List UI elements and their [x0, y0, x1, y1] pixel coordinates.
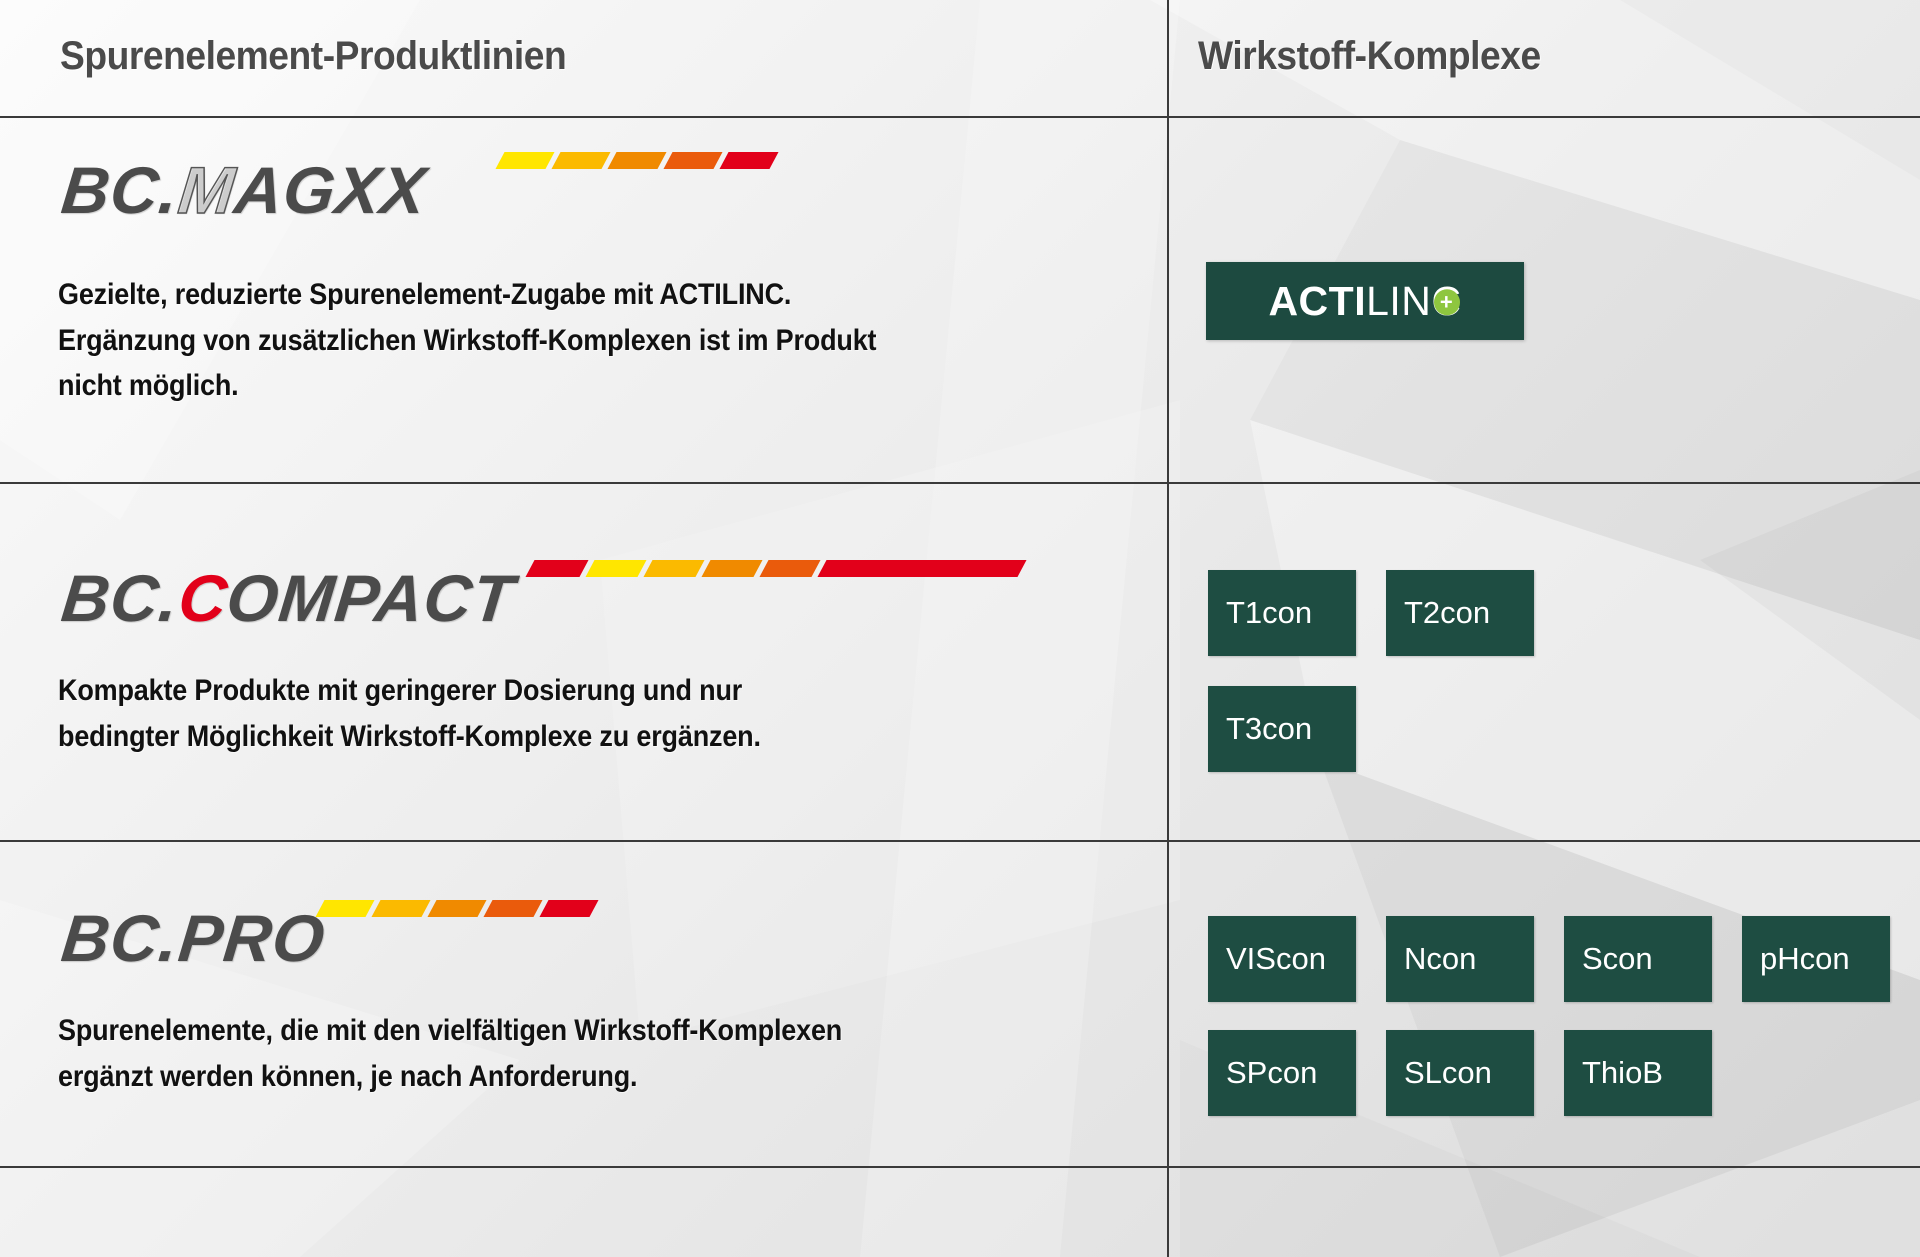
bc-magxx-description: Gezielte, reduzierte Spurenelement-Zugab…: [58, 272, 876, 409]
bc-pro-logo: BC.PRO: [62, 900, 325, 976]
bc-magxx-prefix: BC.: [58, 152, 183, 228]
bc-compact-red-letter: C: [175, 560, 232, 636]
complex-badge-t2con[interactable]: T2con: [1386, 570, 1534, 656]
stripe-dark-orange: [759, 560, 820, 577]
column-header-active-complexes: Wirkstoff-Komplexe: [1198, 34, 1541, 79]
complex-badge-thiob[interactable]: ThioB: [1564, 1030, 1712, 1116]
complex-badge-t1con[interactable]: T1con: [1208, 570, 1356, 656]
stripe-orange: [701, 560, 762, 577]
bc-pro-prefix: BC.: [58, 900, 183, 976]
stripe-orange: [427, 900, 486, 917]
stripe-red-long: [817, 560, 1026, 577]
bc-pro-stripes: [315, 900, 598, 917]
complex-badge-scon[interactable]: Scon: [1564, 916, 1712, 1002]
desc-line: Kompakte Produkte mit geringerer Dosieru…: [58, 668, 761, 714]
bc-pro-description: Spurenelemente, die mit den vielfältigen…: [58, 1008, 842, 1099]
bc-magxx-stripes: [495, 152, 778, 169]
complex-badge-phcon[interactable]: pHcon: [1742, 916, 1890, 1002]
bc-compact-description: Kompakte Produkte mit geringerer Dosieru…: [58, 668, 761, 759]
desc-line: Ergänzung von zusätzlichen Wirkstoff-Kom…: [58, 318, 876, 364]
stripe-dark-orange: [663, 152, 722, 169]
complex-badge-t3con[interactable]: T3con: [1208, 686, 1356, 772]
complex-badge-spcon[interactable]: SPcon: [1208, 1030, 1356, 1116]
bc-magxx-suffix: AGXX: [231, 152, 430, 228]
bc-compact-suffix: OMPACT: [223, 560, 518, 636]
desc-line: bedingter Möglichkeit Wirkstoff-Komplexe…: [58, 714, 761, 760]
comparison-table: Spurenelement-Produktlinien Wirkstoff-Ko…: [0, 0, 1920, 1257]
stripe-yellow: [315, 900, 374, 917]
bc-pro-suffix: PRO: [175, 900, 329, 976]
grid-line-row3: [0, 1166, 1920, 1168]
grid-line-row2: [0, 840, 1920, 842]
stripe-yellow: [495, 152, 554, 169]
complex-badge-slcon[interactable]: SLcon: [1386, 1030, 1534, 1116]
stripe-red: [539, 900, 598, 917]
actilinc-bold-text: ACTI: [1268, 281, 1366, 322]
column-header-product-lines: Spurenelement-Produktlinien: [60, 34, 566, 79]
complex-badge-viscon[interactable]: VIScon: [1208, 916, 1356, 1002]
stripe-amber: [643, 560, 704, 577]
bc-compact-prefix: BC.: [58, 560, 183, 636]
bc-compact-stripes: [525, 560, 1026, 577]
stripe-orange: [607, 152, 666, 169]
grid-line-row1: [0, 482, 1920, 484]
plus-icon: +: [1434, 289, 1460, 315]
bc-compact-logo: BC.COMPACT: [62, 560, 514, 636]
grid-line-header: [0, 116, 1920, 118]
stripe-amber: [551, 152, 610, 169]
stripe-dark-orange: [483, 900, 542, 917]
bc-magxx-outline-letter: M: [175, 152, 239, 228]
desc-line: nicht möglich.: [58, 363, 876, 409]
stripe-red: [525, 560, 588, 577]
bc-magxx-logo: BC.MAGXX: [62, 152, 426, 228]
grid-line-column-divider: [1167, 0, 1169, 1257]
stripe-yellow: [585, 560, 646, 577]
stripe-red: [719, 152, 778, 169]
desc-line: Gezielte, reduzierte Spurenelement-Zugab…: [58, 272, 876, 318]
actilinc-badge[interactable]: ACTILINC +: [1206, 262, 1524, 340]
desc-line: ergänzt werden können, je nach Anforderu…: [58, 1054, 842, 1100]
stripe-amber: [371, 900, 430, 917]
complex-badge-ncon[interactable]: Ncon: [1386, 916, 1534, 1002]
desc-line: Spurenelemente, die mit den vielfältigen…: [58, 1008, 842, 1054]
